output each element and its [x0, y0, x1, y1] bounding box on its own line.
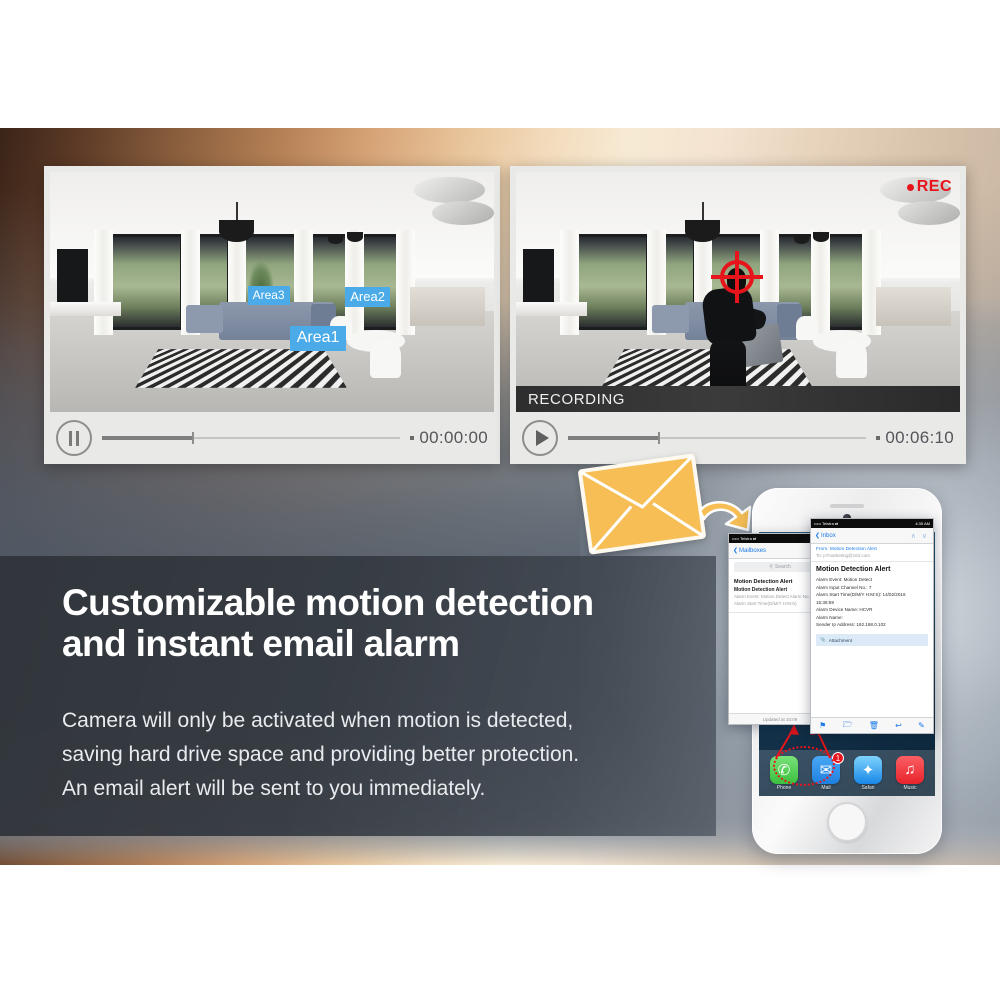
status-carrier: ••••• Telstra ⇄: [814, 521, 838, 526]
living-room-scene-intruder: [516, 172, 960, 412]
area-tag-1[interactable]: Area1: [290, 326, 347, 351]
body-line-2: saving hard drive space and providing be…: [62, 738, 687, 772]
back-label: Mailboxes: [739, 548, 766, 554]
video-player-playback: REC RECORDING 00:06:10: [510, 166, 966, 464]
search-icon: ⚲: [769, 564, 773, 570]
music-app-label: Music: [895, 785, 925, 791]
body-copy: Camera will only be activated when motio…: [62, 704, 687, 806]
email-body-line: Alarm Device Name: HCVR: [811, 606, 933, 614]
compose-icon[interactable]: ✎: [918, 721, 925, 730]
search-placeholder: Search: [775, 564, 791, 570]
chevron-left-icon: ❮: [815, 532, 820, 539]
status-carrier: ••••• Telstra ⇄: [732, 536, 756, 541]
reply-icon[interactable]: ↩: [895, 721, 902, 730]
area-tag-2[interactable]: Area2: [345, 287, 390, 307]
chevron-up-icon[interactable]: ∧: [911, 533, 918, 540]
target-crosshair-icon: [711, 251, 763, 303]
body-line-3: An email alert will be sent to you immed…: [62, 772, 687, 806]
play-icon[interactable]: [522, 420, 558, 456]
timecode-dot-icon: [876, 436, 880, 440]
page-title: Customizable motion detection and instan…: [62, 582, 682, 665]
area-tag-3[interactable]: Area3: [248, 286, 290, 305]
email-attachment[interactable]: 📎 Attachment: [816, 634, 928, 646]
headline-line-2: and instant email alarm: [62, 623, 682, 664]
copy-panel: Customizable motion detection and instan…: [0, 556, 716, 836]
mail-detail-pane: ••••• Telstra ⇄ 4:35 AM ❮ Inbox ∧ ∨ From…: [810, 518, 934, 734]
progress-track-live[interactable]: [102, 431, 400, 445]
email-body-line: Alarm Event: Motion Detect: [811, 576, 933, 584]
recording-status-bar: RECORDING: [516, 386, 960, 412]
attachment-label: Attachment: [829, 638, 852, 643]
status-time: 4:35 AM: [915, 521, 930, 526]
timecode-value: 00:00:00: [419, 428, 488, 448]
safari-glyph-icon: ✦: [854, 756, 882, 784]
rec-label: REC: [917, 178, 952, 196]
video-screen-playback: REC RECORDING: [516, 172, 960, 412]
player-controls-live: 00:00:00: [44, 412, 500, 464]
timecode-value: 00:06:10: [885, 428, 954, 448]
back-label: Inbox: [821, 533, 836, 539]
chevron-down-icon[interactable]: ∨: [922, 533, 929, 540]
envelope-icon: [578, 453, 707, 555]
rec-indicator: REC: [907, 178, 952, 196]
music-glyph-icon: ♫: [896, 756, 924, 784]
recording-label: RECORDING: [516, 391, 625, 408]
video-player-live: Area3 Area2 Area1 00:00:00: [44, 166, 500, 464]
trash-icon[interactable]: 🗑: [869, 721, 879, 730]
mail-app-label: Mail: [811, 785, 841, 791]
detail-nav-bar: ❮ Inbox ∧ ∨: [811, 528, 933, 544]
email-body-line: 15:38:59: [811, 599, 933, 607]
email-body-line: Alarm Name:: [811, 614, 933, 622]
email-body-line: Sender Ip Address: 192.168.0.102: [811, 621, 933, 629]
timecode-live: 00:00:00: [410, 428, 488, 448]
folder-icon[interactable]: 🗁: [843, 719, 853, 733]
back-to-inbox-button[interactable]: ❮ Inbox: [815, 532, 836, 539]
timecode-playback: 00:06:10: [876, 428, 954, 448]
safari-app-label: Safari: [853, 785, 883, 791]
chevron-left-icon: ❮: [733, 547, 738, 554]
email-body-line: Alarm Start Time(D/M/Y H:M:S): 14/02/201…: [811, 591, 933, 599]
email-subject-heading: Motion Detection Alert: [811, 562, 933, 576]
back-to-mailboxes-button[interactable]: ❮ Mailboxes: [733, 547, 766, 554]
email-to: To: p7marketing@163.com: [811, 552, 933, 562]
phone-app-label: Phone: [769, 785, 799, 791]
rec-dot-icon: [907, 184, 914, 191]
headline-line-1: Customizable motion detection: [62, 582, 593, 623]
body-line-1: Camera will only be activated when motio…: [62, 704, 687, 738]
timecode-dot-icon: [410, 436, 414, 440]
phone-home-button[interactable]: [827, 802, 867, 842]
music-app-icon[interactable]: ♫ Music: [895, 756, 925, 791]
phone-speaker: [830, 504, 864, 508]
email-from: From: Motion Detection Alert: [811, 544, 933, 552]
video-screen-live: Area3 Area2 Area1: [50, 172, 494, 412]
progress-track-playback[interactable]: [568, 431, 866, 445]
email-body-line: Alarm Input Channel No.: 7: [811, 584, 933, 592]
ios-status-bar-detail: ••••• Telstra ⇄ 4:35 AM: [811, 519, 933, 528]
safari-app-icon[interactable]: ✦ Safari: [853, 756, 883, 791]
player-controls-playback: 00:06:10: [510, 412, 966, 464]
promo-banner: Area3 Area2 Area1 00:00:00: [0, 0, 1000, 1000]
email-action-toolbar: ⚑ 🗁 🗑 ↩ ✎: [811, 717, 933, 733]
flag-icon[interactable]: ⚑: [819, 721, 826, 730]
message-nav-chevrons[interactable]: ∧ ∨: [911, 532, 929, 540]
paperclip-icon: 📎: [820, 637, 826, 643]
pause-icon[interactable]: [56, 420, 92, 456]
